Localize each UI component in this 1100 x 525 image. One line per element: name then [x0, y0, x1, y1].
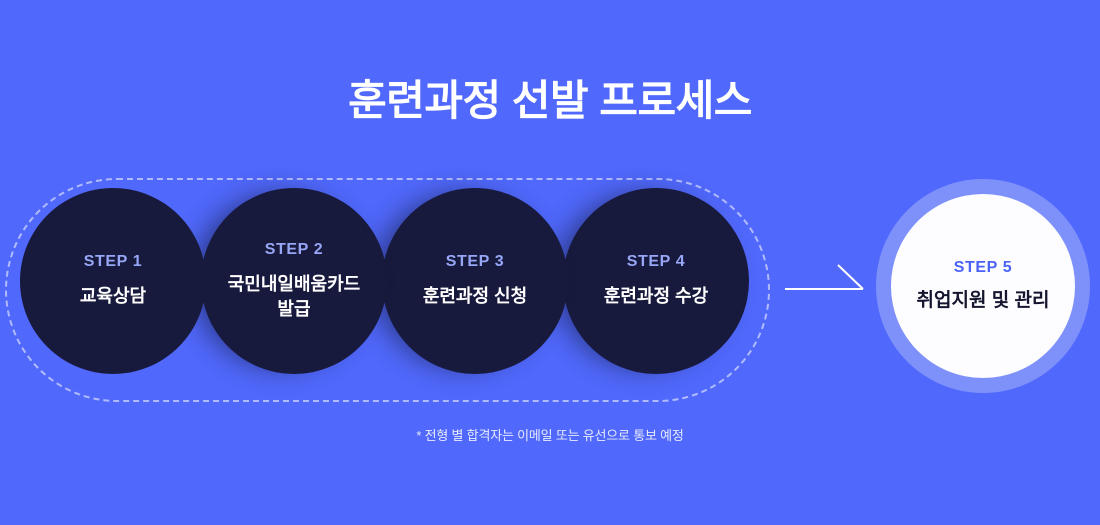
- step-text-4: 훈련과정 수강: [604, 284, 708, 308]
- process-infographic: 훈련과정 선발 프로세스 STEP 1 교육상담 STEP 2 국민내일배움카드…: [0, 0, 1100, 525]
- step-circle-4[interactable]: STEP 4 훈련과정 수강: [563, 188, 749, 374]
- step-circle-5[interactable]: STEP 5 취업지원 및 관리: [876, 179, 1090, 393]
- step-text-2: 국민내일배움카드 발급: [228, 272, 360, 321]
- footnote-text: * 전형 별 합격자는 이메일 또는 유선으로 통보 예정: [0, 425, 1100, 444]
- steps-row: STEP 1 교육상담 STEP 2 국민내일배움카드 발급 STEP 3 훈련…: [0, 0, 1100, 525]
- step-circle-1[interactable]: STEP 1 교육상담: [20, 188, 206, 374]
- step-label-2: STEP 2: [265, 241, 323, 259]
- step-label-1: STEP 1: [84, 253, 142, 271]
- step-text-1: 교육상담: [80, 284, 146, 308]
- step-text-3: 훈련과정 신청: [423, 284, 527, 308]
- step-circle-2[interactable]: STEP 2 국민내일배움카드 발급: [201, 188, 387, 374]
- step-circle-5-inner: STEP 5 취업지원 및 관리: [891, 194, 1075, 378]
- arrow-right-icon: [783, 252, 873, 302]
- step-circle-3[interactable]: STEP 3 훈련과정 신청: [382, 188, 568, 374]
- step-label-3: STEP 3: [446, 253, 504, 271]
- step-label-5: STEP 5: [954, 259, 1012, 277]
- step-text-5: 취업지원 및 관리: [917, 288, 1050, 314]
- step-label-4: STEP 4: [627, 253, 685, 271]
